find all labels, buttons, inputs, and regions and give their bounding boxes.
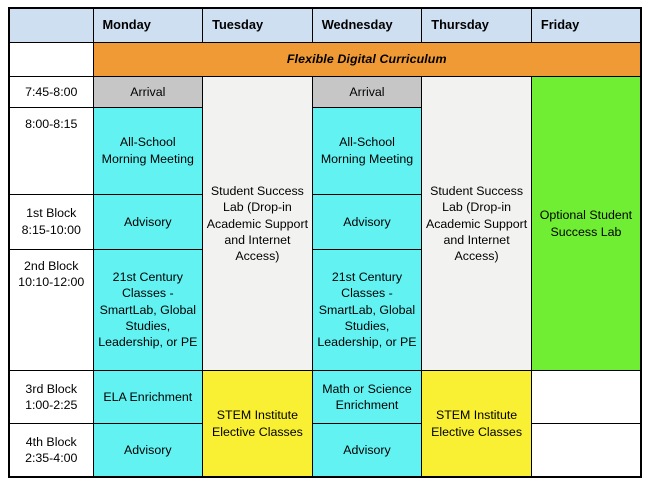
weekly-schedule-container: Monday Tuesday Wednesday Thursday Friday… [8, 7, 640, 478]
banner-row-blank [9, 42, 93, 76]
flexible-digital-curriculum-banner: Flexible Digital Curriculum [93, 42, 641, 76]
cell-tuesday-stem-institute: STEM Institute Elective Classes [203, 371, 313, 477]
cell-thursday-stem-institute: STEM Institute Elective Classes [422, 371, 532, 477]
table-row-4th-block: 4th Block 2:35-4:00 Advisory Advisory [9, 423, 641, 477]
header-thursday: Thursday [422, 8, 532, 42]
header-monday: Monday [93, 8, 203, 42]
table-row-arrival: 7:45-8:00 Arrival Student Success Lab (D… [9, 77, 641, 107]
time-label-2nd-block-line1: 2nd Block [24, 259, 78, 273]
time-label-2nd-block-line2: 10:10-12:00 [18, 275, 84, 289]
time-label-745-800: 7:45-8:00 [9, 77, 93, 107]
cell-friday-optional-student-success-lab: Optional Student Success Lab [531, 77, 641, 371]
cell-monday-arrival: Arrival [93, 77, 203, 107]
cell-friday-3rd-block-empty [531, 371, 641, 424]
time-label-3rd-block-line1: 3rd Block [25, 382, 77, 396]
cell-wednesday-math-science-enrichment: Math or Science Enrichment [312, 371, 422, 424]
cell-wednesday-arrival: Arrival [312, 77, 422, 107]
time-label-800-815: 8:00-8:15 [9, 107, 93, 194]
time-label-1st-block: 1st Block 8:15-10:00 [9, 194, 93, 249]
cell-friday-4th-block-empty [531, 423, 641, 477]
time-label-1st-block-line2: 8:15-10:00 [22, 223, 81, 237]
cell-monday-advisory-4th: Advisory [93, 423, 203, 477]
time-label-3rd-block: 3rd Block 1:00-2:25 [9, 371, 93, 424]
time-label-4th-block-line1: 4th Block [26, 435, 77, 449]
cell-wednesday-advisory-1st: Advisory [312, 194, 422, 249]
cell-wednesday-21st-century-classes: 21st Century Classes - SmartLab, Global … [312, 249, 422, 371]
cell-thursday-student-success-lab: Student Success Lab (Drop-in Academic Su… [422, 77, 532, 371]
time-label-4th-block: 4th Block 2:35-4:00 [9, 423, 93, 477]
header-friday: Friday [531, 8, 641, 42]
cell-monday-advisory-1st: Advisory [93, 194, 203, 249]
header-corner-blank [9, 8, 93, 42]
cell-wednesday-morning-meeting: All-School Morning Meeting [312, 107, 422, 194]
cell-monday-21st-century-classes: 21st Century Classes - SmartLab, Global … [93, 249, 203, 371]
table-header-row: Monday Tuesday Wednesday Thursday Friday [9, 8, 641, 42]
cell-wednesday-advisory-4th: Advisory [312, 423, 422, 477]
cell-monday-morning-meeting: All-School Morning Meeting [93, 107, 203, 194]
header-wednesday: Wednesday [312, 8, 422, 42]
banner-row: Flexible Digital Curriculum [9, 42, 641, 76]
time-label-2nd-block: 2nd Block 10:10-12:00 [9, 249, 93, 371]
cell-monday-ela-enrichment: ELA Enrichment [93, 371, 203, 424]
weekly-schedule-table: Monday Tuesday Wednesday Thursday Friday… [8, 7, 642, 478]
time-label-1st-block-line1: 1st Block [26, 206, 76, 220]
time-label-3rd-block-line2: 1:00-2:25 [25, 398, 77, 412]
header-tuesday: Tuesday [203, 8, 313, 42]
time-label-4th-block-line2: 2:35-4:00 [25, 451, 77, 465]
cell-tuesday-student-success-lab: Student Success Lab (Drop-in Academic Su… [203, 77, 313, 371]
table-row-3rd-block: 3rd Block 1:00-2:25 ELA Enrichment STEM … [9, 371, 641, 424]
